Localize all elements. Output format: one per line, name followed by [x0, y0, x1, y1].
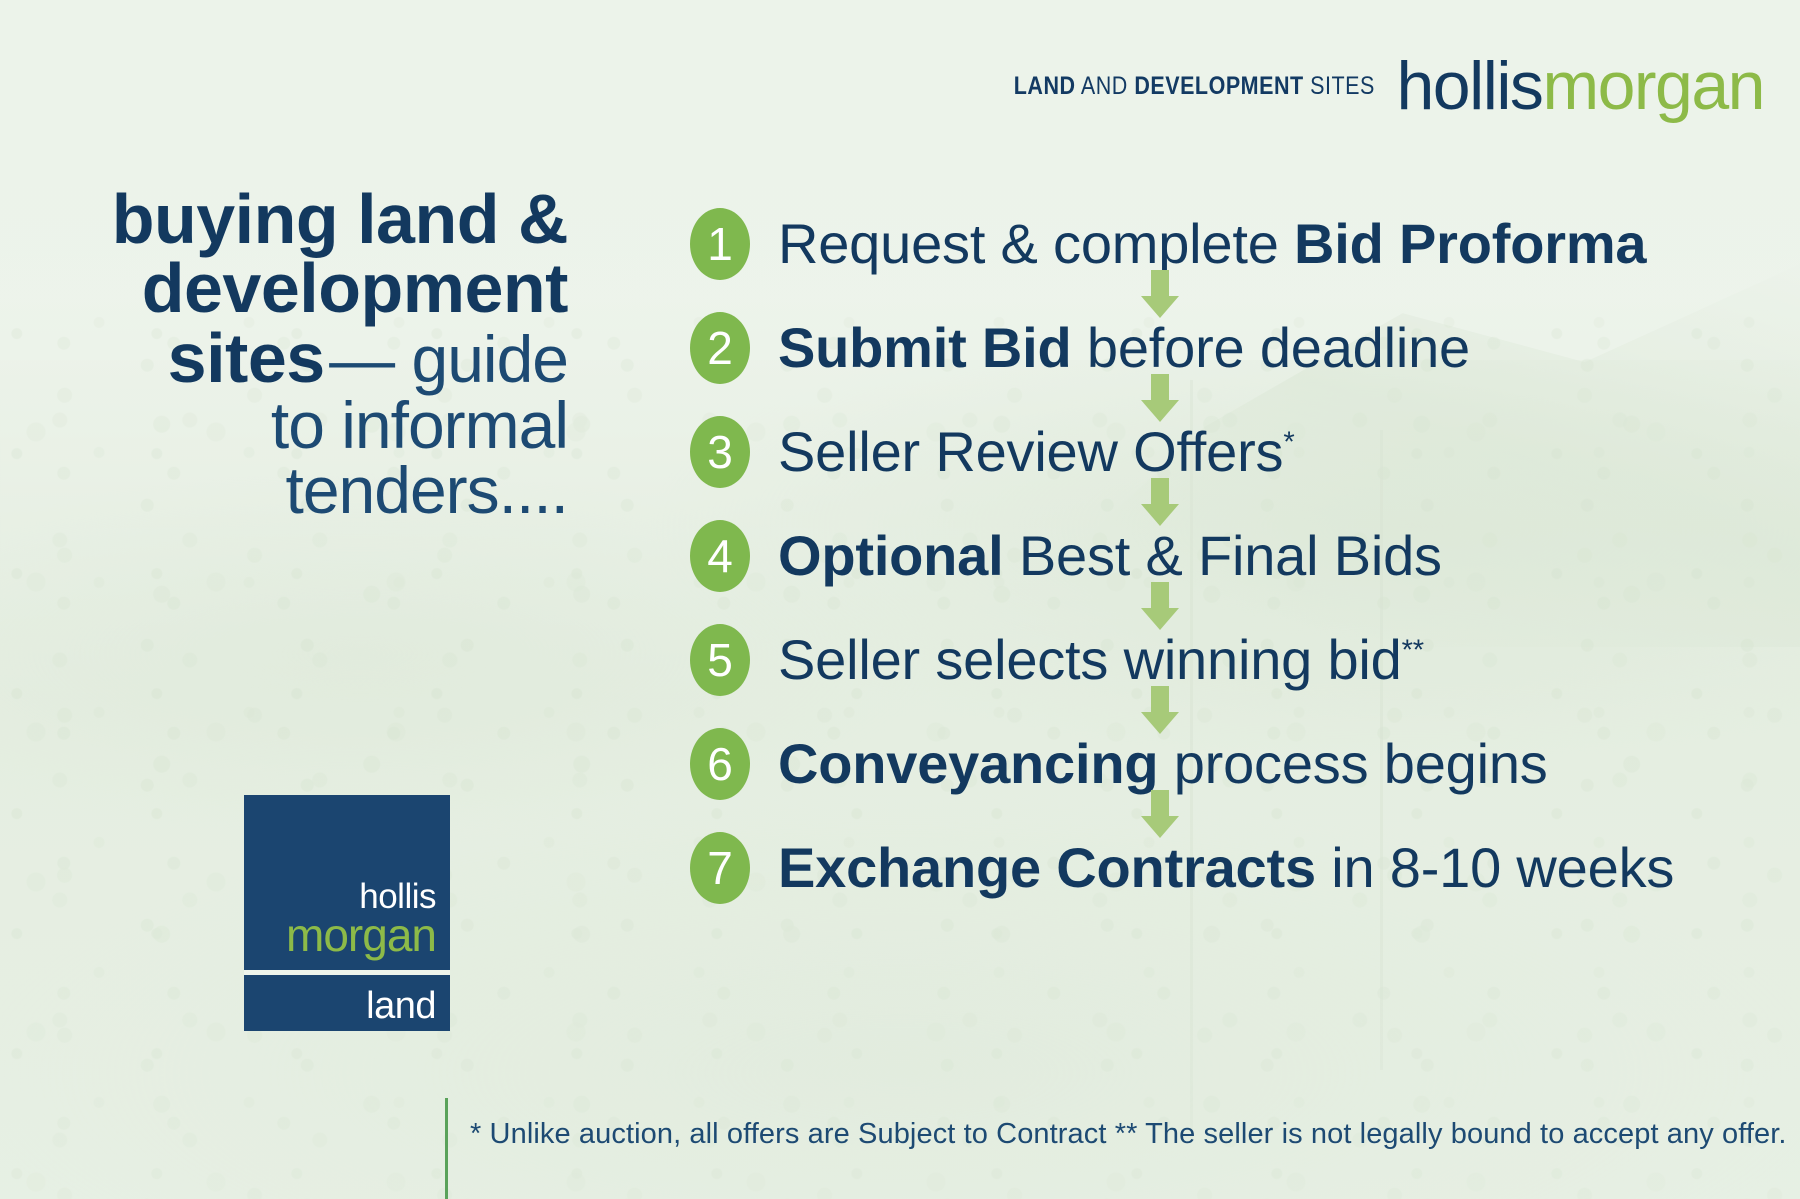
hollis-morgan-land-logo: hollis morgan land — [244, 795, 450, 1031]
step-row-6: 6Conveyancing process begins — [690, 712, 1770, 816]
step-label-5: Seller selects winning bid** — [778, 631, 1424, 688]
step-label-bold-6: Conveyancing — [778, 732, 1158, 795]
footnote-divider — [445, 1098, 448, 1199]
brand-wordmark: hollismorgan — [1396, 52, 1764, 120]
kicker-development: DEVELOPMENT — [1134, 72, 1303, 100]
step-number-badge-2: 2 — [690, 312, 750, 384]
kicker-and: AND — [1080, 72, 1127, 100]
step-number-badge-6: 6 — [690, 728, 750, 800]
step-footnote-marker-5: ** — [1402, 635, 1424, 667]
step-label-bold-7: Exchange Contracts — [778, 836, 1316, 899]
step-label-regular-6: process begins — [1158, 732, 1547, 795]
step-row-2: 2Submit Bid before deadline — [690, 296, 1770, 400]
step-number-badge-4: 4 — [690, 520, 750, 592]
step-row-1: 1Request & complete Bid Proforma — [690, 192, 1770, 296]
step-row-3: 3Seller Review Offers* — [690, 400, 1770, 504]
step-label-2: Submit Bid before deadline — [778, 319, 1470, 376]
title-line-2: development — [48, 254, 568, 323]
process-steps: 1Request & complete Bid Proforma2Submit … — [690, 192, 1770, 920]
step-row-4: 4Optional Best & Final Bids — [690, 504, 1770, 608]
title-text-3-light: — guide — [329, 322, 568, 396]
wordmark-morgan: morgan — [1542, 48, 1764, 124]
step-label-bold-2: Submit Bid — [778, 316, 1072, 379]
kicker-land: LAND — [1013, 72, 1075, 100]
title-text-2: development — [142, 249, 568, 327]
step-number-badge-3: 3 — [690, 416, 750, 488]
infographic-poster: LAND AND DEVELOPMENT SITES hollismorgan … — [0, 0, 1800, 1199]
page-title: buying land & development sites — guide … — [48, 185, 568, 524]
kicker-sites: SITES — [1310, 72, 1375, 100]
step-footnote-marker-3: * — [1283, 427, 1294, 459]
step-label-7: Exchange Contracts in 8-10 weeks — [778, 839, 1674, 896]
step-label-regular-1: Request & complete — [778, 212, 1294, 275]
step-number-badge-5: 5 — [690, 624, 750, 696]
title-line-4: to informal — [48, 393, 568, 458]
step-label-regular-5: Seller selects winning bid — [778, 628, 1402, 691]
step-label-6: Conveyancing process begins — [778, 735, 1548, 792]
step-label-3: Seller Review Offers* — [778, 423, 1295, 480]
step-number-badge-7: 7 — [690, 832, 750, 904]
step-label-bold-4: Optional — [778, 524, 1004, 587]
header: LAND AND DEVELOPMENT SITES hollismorgan — [955, 52, 1764, 120]
title-text-3-bold: sites — [168, 319, 325, 397]
title-line-3: sites — guide — [48, 324, 568, 393]
title-line-1: buying land & — [48, 185, 568, 254]
step-number-badge-1: 1 — [690, 208, 750, 280]
title-text-5: tenders.... — [286, 453, 569, 527]
footnote-text: * Unlike auction, all offers are Subject… — [470, 1118, 1787, 1151]
header-kicker: LAND AND DEVELOPMENT SITES — [1013, 72, 1374, 101]
logo-sub-block: land — [244, 975, 450, 1031]
step-label-regular-3: Seller Review Offers — [778, 420, 1283, 483]
step-row-7: 7Exchange Contracts in 8-10 weeks — [690, 816, 1770, 920]
title-text-4: to informal — [271, 388, 568, 462]
step-label-regular-7: in 8-10 weeks — [1316, 836, 1674, 899]
step-label-4: Optional Best & Final Bids — [778, 527, 1442, 584]
logo-morgan: morgan — [286, 912, 436, 958]
wordmark-hollis: hollis — [1396, 48, 1542, 124]
logo-main-block: hollis morgan — [244, 795, 450, 970]
logo-land: land — [366, 987, 436, 1025]
step-label-1: Request & complete Bid Proforma — [778, 215, 1646, 272]
title-text-1: buying land & — [112, 180, 568, 258]
title-line-5: tenders.... — [48, 458, 568, 523]
step-label-bold-after-1: Bid Proforma — [1294, 212, 1646, 275]
step-label-regular-4: Best & Final Bids — [1004, 524, 1442, 587]
step-label-regular-2: before deadline — [1072, 316, 1470, 379]
step-row-5: 5Seller selects winning bid** — [690, 608, 1770, 712]
